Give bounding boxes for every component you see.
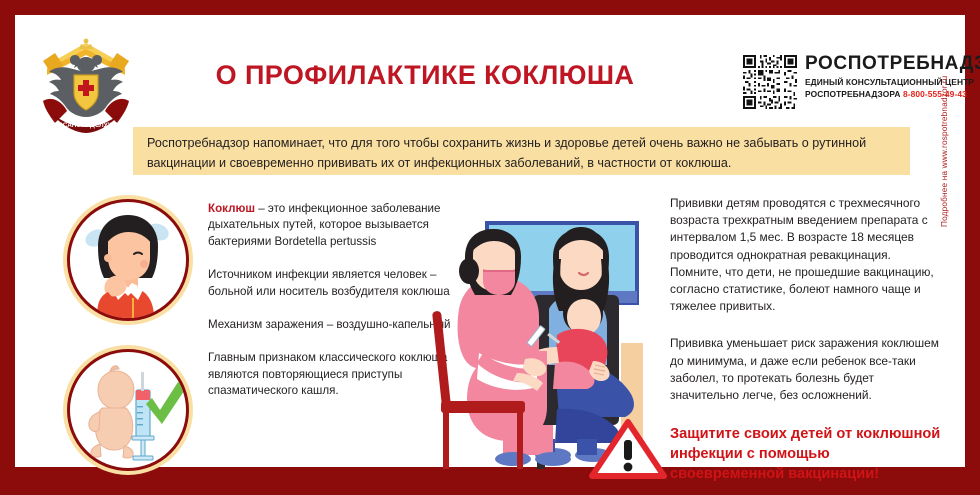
paragraph-benefit: Прививка уменьшает риск заражения коклюш… (670, 335, 945, 404)
hotline-phone[interactable]: 8-800-555-49-43 (903, 89, 967, 99)
keyword-pertussis: Коклюш (208, 202, 255, 215)
intro-banner: Роспотребнадзор напоминает, что для того… (133, 127, 910, 175)
right-text-column: Прививки детям проводятся с трехмесячног… (670, 195, 945, 484)
poster-sheet: ГОССАНЭПИДСЛУЖБА О ПРОФИЛАКТИКЕ КОКЛЮША (15, 15, 965, 467)
rospotrebnadzor-emblem-icon: ГОССАНЭПИДСЛУЖБА (37, 31, 135, 135)
poster-frame: ГОССАНЭПИДСЛУЖБА О ПРОФИЛАКТИКЕ КОКЛЮША (0, 0, 980, 495)
emblem-banner-text: ГОССАНЭПИДСЛУЖБА (50, 122, 123, 129)
warning-triangle-icon (589, 419, 667, 479)
qr-code-icon[interactable] (743, 55, 797, 109)
paragraph-schedule: Прививки детям проводятся с трехмесячног… (670, 195, 945, 315)
coughing-girl-icon (63, 195, 193, 325)
website-side-note[interactable]: Подробнее на www.rospotrebnadzor.ru (940, 0, 954, 227)
intro-banner-text: Роспотребнадзор напоминает, что для того… (147, 134, 896, 173)
baby-syringe-check-icon (63, 345, 193, 475)
page-title: О ПРОФИЛАКТИКЕ КОКЛЮША (165, 60, 685, 91)
call-to-action: Защитите своих детей от коклюшной инфекц… (670, 424, 945, 484)
